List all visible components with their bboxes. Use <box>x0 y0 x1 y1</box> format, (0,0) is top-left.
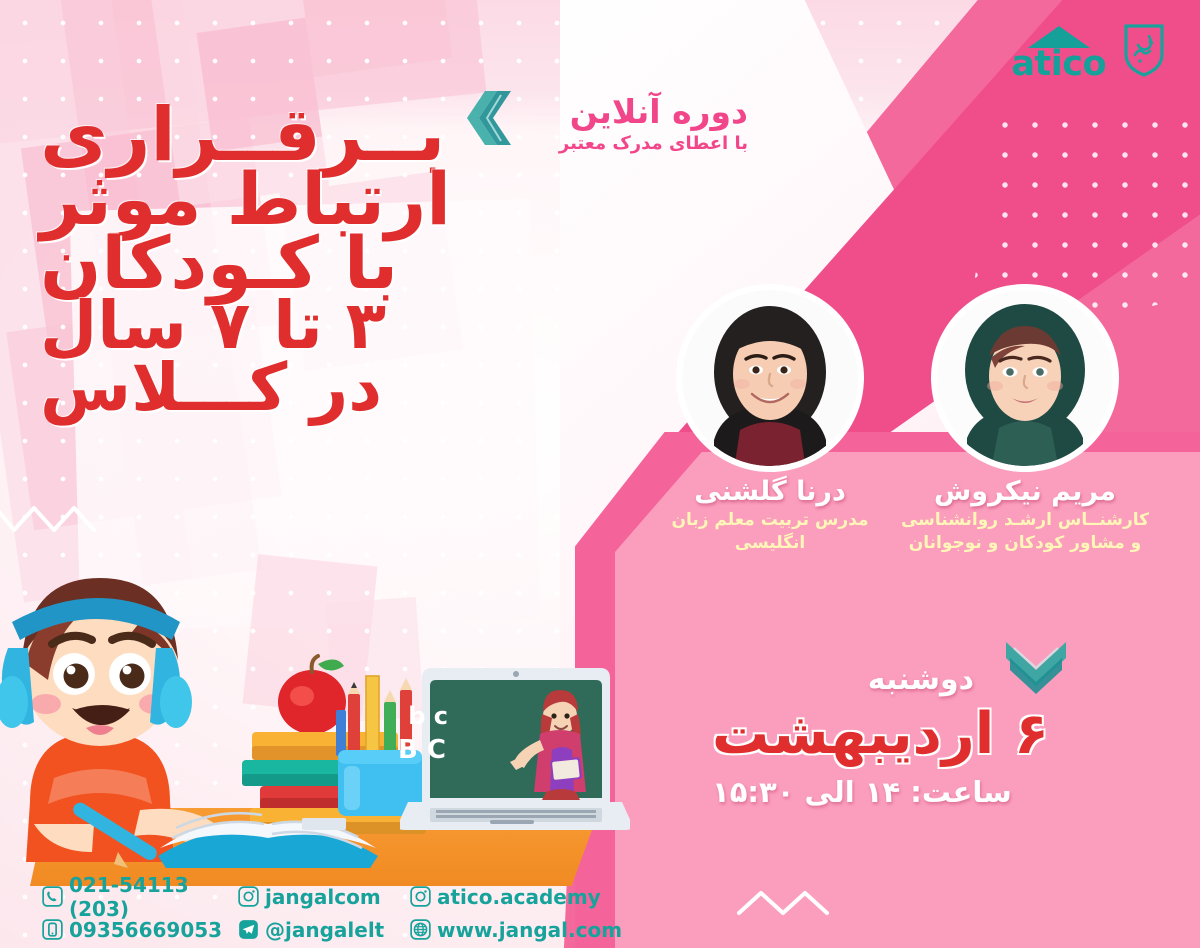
headline-line-5: در کـــلاس <box>40 354 560 421</box>
contact-mobile[interactable]: 09356669053 <box>42 918 238 942</box>
instructor-card-dorna: درنا گلشنی مدرس تربیت معلم زبان انگلیسی <box>650 290 890 555</box>
zigzag-left-decor <box>0 500 116 540</box>
online-course-badge: دوره آنلاین با اعطای مدرک معتبر <box>559 95 748 154</box>
zigzag-bottom-decor <box>735 885 865 921</box>
brand-logos: atico <box>1011 22 1166 82</box>
contact-phone-text: 021-54113 (203) <box>69 873 238 921</box>
schedule-date: ۶ اردیبهشت <box>712 706 1142 763</box>
contact-telegram[interactable]: @jangalelt <box>238 918 410 942</box>
laptop-with-lesson: a b c A B C <box>400 654 630 854</box>
online-course-title: دوره آنلاین <box>559 95 748 130</box>
page-title: بــرقــراری ارتباط موثر با کـودکان ۳ تا … <box>40 98 560 421</box>
schedule-time: ساعت: ۱۴ الی ۱۵:۳۰ <box>712 775 1142 809</box>
atico-wordmark: atico <box>1011 47 1106 82</box>
online-course-subtitle: با اعطای مدرک معتبر <box>559 133 748 154</box>
instructor-photo-dorna <box>682 290 858 466</box>
contact-instagram-atico[interactable]: atico.academy <box>410 885 601 909</box>
illustration-children-study: a b c A B C <box>0 546 640 886</box>
contact-instagram-atico-text: atico.academy <box>437 885 601 909</box>
instagram-icon <box>410 886 431 907</box>
contact-telegram-text: @jangalelt <box>265 918 384 942</box>
mobile-icon <box>42 919 63 940</box>
footer-contact-bar: 021-54113 (203) jangalcom atico.academy <box>0 876 640 948</box>
footer-row-2: 09356669053 @jangalelt www.jangal.com <box>42 913 640 946</box>
schedule-weekday: دوشنبه <box>868 662 974 697</box>
board-text-lower: a b c <box>400 702 448 730</box>
instructor-role-maryam-line1: کارشنــاس ارشـد روانشناسی <box>895 509 1155 532</box>
instructor-card-maryam: مریم نیکروش کارشنــاس ارشـد روانشناسی و … <box>895 290 1155 555</box>
globe-icon <box>410 919 431 940</box>
instructor-role-maryam-line2: و مشاور کودکان و نوجوانان <box>895 532 1155 555</box>
phone-icon <box>42 886 63 907</box>
contact-instagram-jangal[interactable]: jangalcom <box>238 885 410 909</box>
instructor-role-dorna: مدرس تربیت معلم زبان انگلیسی <box>650 509 890 555</box>
board-text-upper: A B C <box>400 735 446 765</box>
contact-mobile-text: 09356669053 <box>69 918 222 942</box>
contact-website-text: www.jangal.com <box>437 918 622 942</box>
contact-phone[interactable]: 021-54113 (203) <box>42 873 238 921</box>
atico-logo: atico <box>1011 23 1106 82</box>
jangal-shield-icon <box>1122 22 1166 82</box>
instructor-name-dorna: درنا گلشنی <box>650 476 890 507</box>
instructor-name-maryam: مریم نیکروش <box>895 476 1155 507</box>
footer-row-1: 021-54113 (203) jangalcom atico.academy <box>42 880 640 913</box>
instagram-icon <box>238 886 259 907</box>
double-chevron-down-icon <box>1000 632 1072 702</box>
telegram-icon <box>238 919 259 940</box>
contact-website[interactable]: www.jangal.com <box>410 918 622 942</box>
instructor-photo-maryam <box>937 290 1113 466</box>
contact-instagram-jangal-text: jangalcom <box>265 885 381 909</box>
poster-canvas: atico دوره آنلاین با اعطای مدرک معتبر بـ… <box>0 0 1200 948</box>
schedule-block: دوشنبه ۶ اردیبهشت ساعت: ۱۴ الی ۱۵:۳۰ <box>712 640 1142 809</box>
